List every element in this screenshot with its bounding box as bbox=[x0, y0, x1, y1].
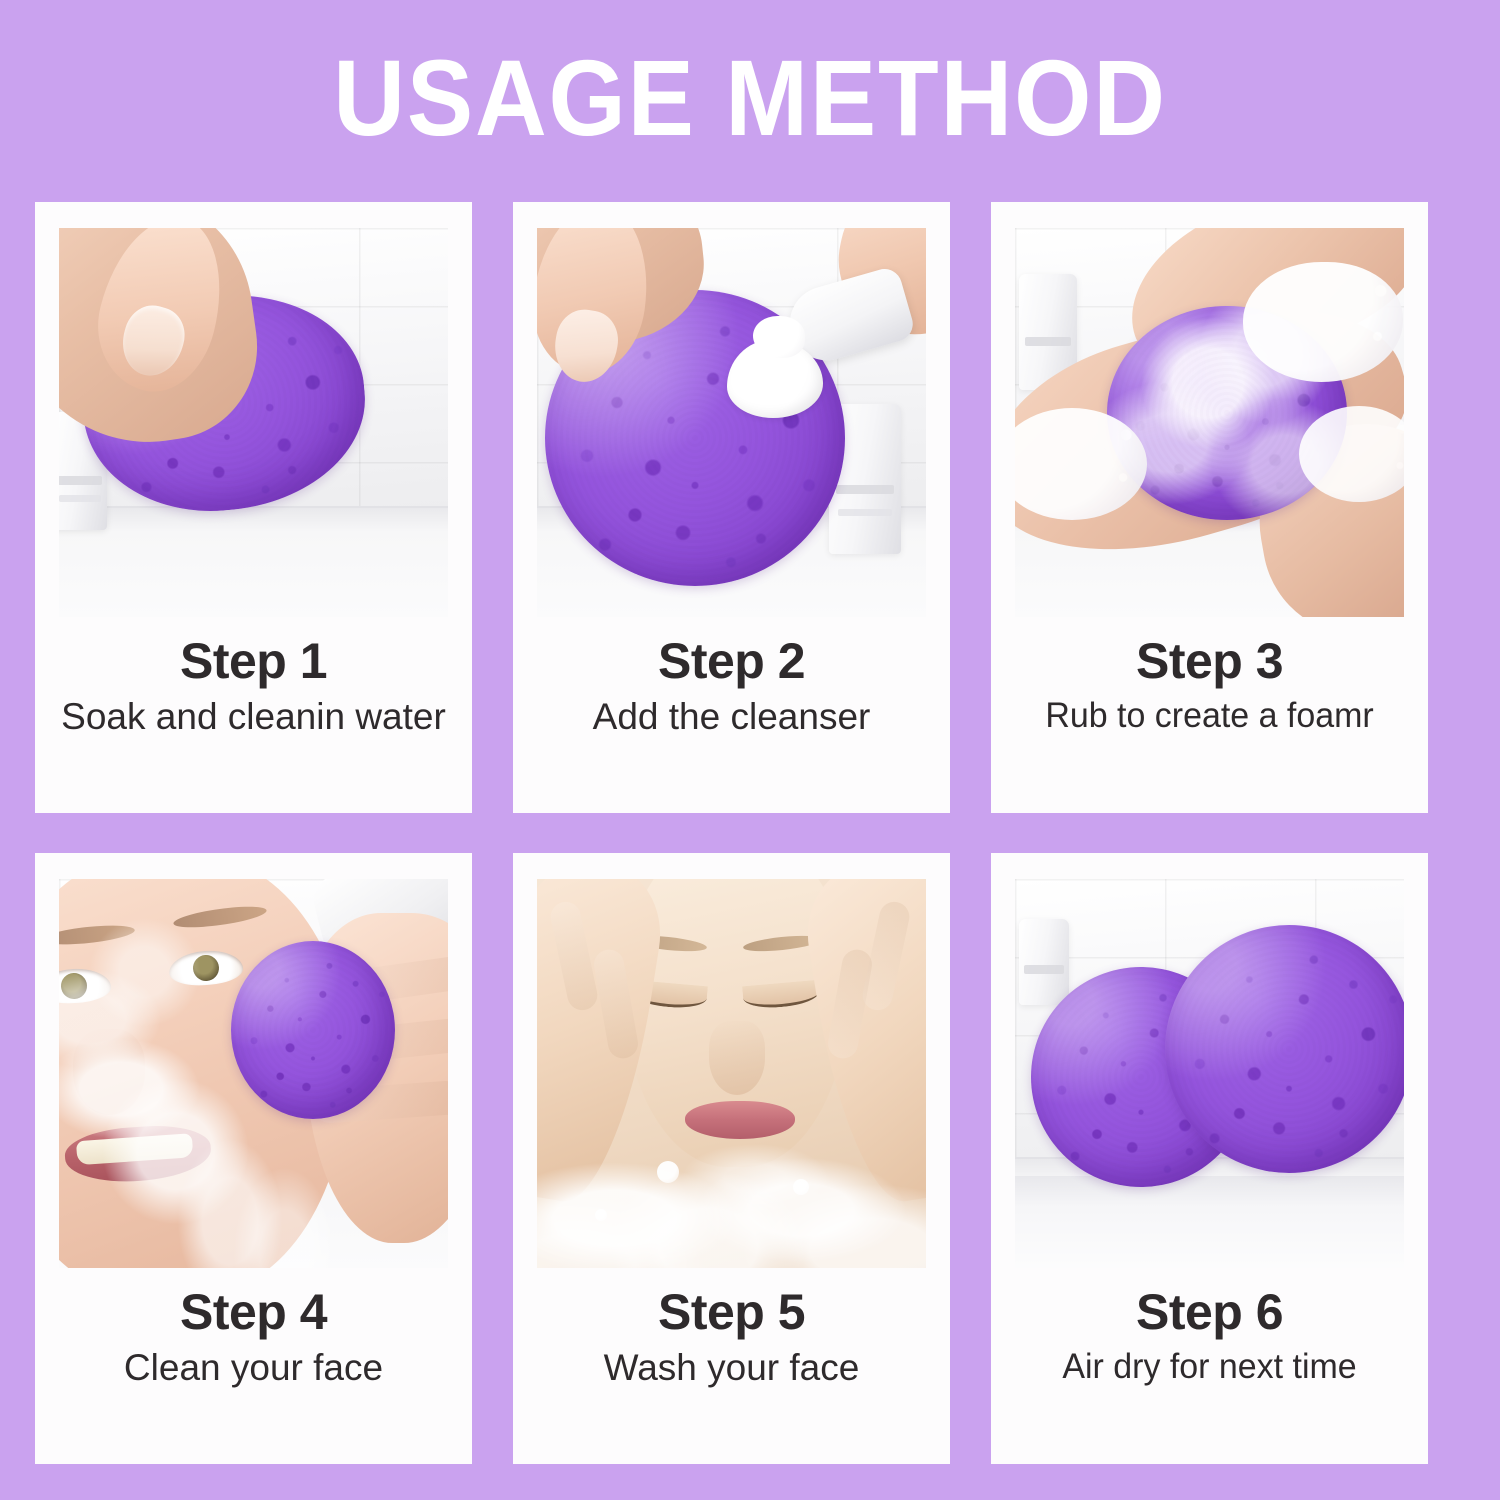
water-splash-icon bbox=[537, 1078, 926, 1268]
foam-blob-icon bbox=[1243, 262, 1403, 382]
step-description: Wash your face bbox=[537, 1346, 926, 1390]
steps-grid: Step 1 Soak and cleanin water Step 2 Add… bbox=[35, 202, 1467, 1464]
step-description: Add the cleanser bbox=[537, 695, 926, 739]
step-3-photo bbox=[1015, 228, 1404, 617]
step-title: Step 3 bbox=[1015, 633, 1404, 689]
step-card-3: Step 3 Rub to create a foamr bbox=[991, 202, 1428, 813]
cosmetic-bottle-icon bbox=[1019, 919, 1069, 1005]
nose-icon bbox=[73, 1029, 145, 1115]
step-5-photo bbox=[537, 879, 926, 1268]
step-card-5: Step 5 Wash your face bbox=[513, 853, 950, 1464]
step-card-4: Step 4 Clean your face bbox=[35, 853, 472, 1464]
step-6-caption: Step 6 Air dry for next time bbox=[1015, 1268, 1404, 1388]
step-1-photo bbox=[59, 228, 448, 617]
step-title: Step 6 bbox=[1015, 1284, 1404, 1340]
water-drop-icon bbox=[595, 1209, 607, 1221]
step-description: Rub to create a foamr bbox=[1021, 695, 1398, 737]
step-card-2: Step 2 Add the cleanser bbox=[513, 202, 950, 813]
usage-method-infographic: USAGE METHOD Step 1 Soak and cleanin wat… bbox=[0, 0, 1500, 1500]
page-title: USAGE METHOD bbox=[333, 44, 1167, 152]
step-4-caption: Step 4 Clean your face bbox=[59, 1268, 448, 1390]
step-description: Clean your face bbox=[59, 1346, 448, 1390]
step-1-caption: Step 1 Soak and cleanin water bbox=[59, 617, 448, 739]
step-card-1: Step 1 Soak and cleanin water bbox=[35, 202, 472, 813]
purple-sponge-icon bbox=[1165, 925, 1404, 1173]
step-title: Step 1 bbox=[59, 633, 448, 689]
step-title: Step 4 bbox=[59, 1284, 448, 1340]
purple-sponge-icon bbox=[231, 941, 395, 1119]
step-title: Step 2 bbox=[537, 633, 926, 689]
water-drop-icon bbox=[657, 1161, 679, 1183]
poster-header: USAGE METHOD bbox=[0, 0, 1500, 196]
counter-surface bbox=[1015, 1176, 1404, 1268]
water-drop-icon bbox=[793, 1179, 809, 1195]
step-6-photo bbox=[1015, 879, 1404, 1268]
step-description: Air dry for next time bbox=[1021, 1346, 1398, 1388]
step-3-caption: Step 3 Rub to create a foamr bbox=[1015, 617, 1404, 737]
step-card-6: Step 6 Air dry for next time bbox=[991, 853, 1428, 1464]
step-title: Step 5 bbox=[537, 1284, 926, 1340]
step-description: Soak and cleanin water bbox=[59, 695, 448, 739]
step-2-photo bbox=[537, 228, 926, 617]
step-5-caption: Step 5 Wash your face bbox=[537, 1268, 926, 1390]
step-2-caption: Step 2 Add the cleanser bbox=[537, 617, 926, 739]
step-4-photo bbox=[59, 879, 448, 1268]
